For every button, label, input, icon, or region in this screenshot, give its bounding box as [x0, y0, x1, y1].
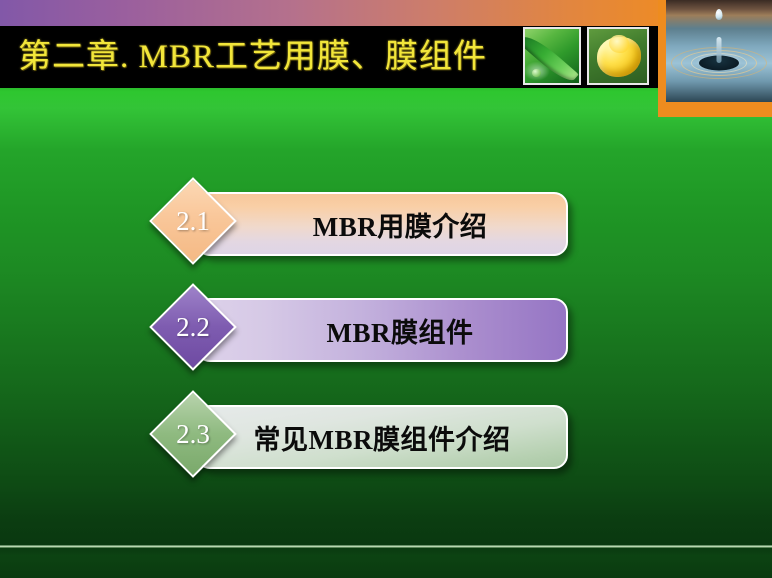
flower-icon	[589, 29, 647, 83]
water-drop-frame	[658, 0, 772, 117]
agenda-number-3: 2.3	[164, 405, 222, 463]
yellow-flower-thumbnail	[587, 27, 649, 85]
agenda-label-2: MBR膜组件	[198, 300, 566, 360]
agenda-label-3: 常见MBR膜组件介绍	[198, 407, 566, 467]
agenda-bar-2[interactable]: MBR膜组件	[196, 298, 568, 362]
leaf-with-dew-thumbnail	[523, 27, 581, 85]
agenda-number-1: 2.1	[164, 192, 222, 250]
bottom-divider	[0, 545, 772, 548]
drop-column	[717, 37, 722, 63]
water-drop-ripple-image	[666, 0, 772, 102]
agenda-label-1: MBR用膜介绍	[198, 194, 566, 254]
agenda-bar-3[interactable]: 常见MBR膜组件介绍	[196, 405, 568, 469]
leaf-icon	[525, 29, 579, 83]
agenda-number-2: 2.2	[164, 298, 222, 356]
top-gradient-strip	[0, 0, 772, 26]
slide-title: 第二章. MBR工艺用膜、膜组件	[18, 27, 487, 87]
agenda-bar-1[interactable]: MBR用膜介绍	[196, 192, 568, 256]
presentation-slide: 第二章. MBR工艺用膜、膜组件 MBR用膜介绍 2.1 MBR膜组件 2.2	[0, 0, 772, 578]
falling-droplet-icon	[716, 9, 723, 20]
